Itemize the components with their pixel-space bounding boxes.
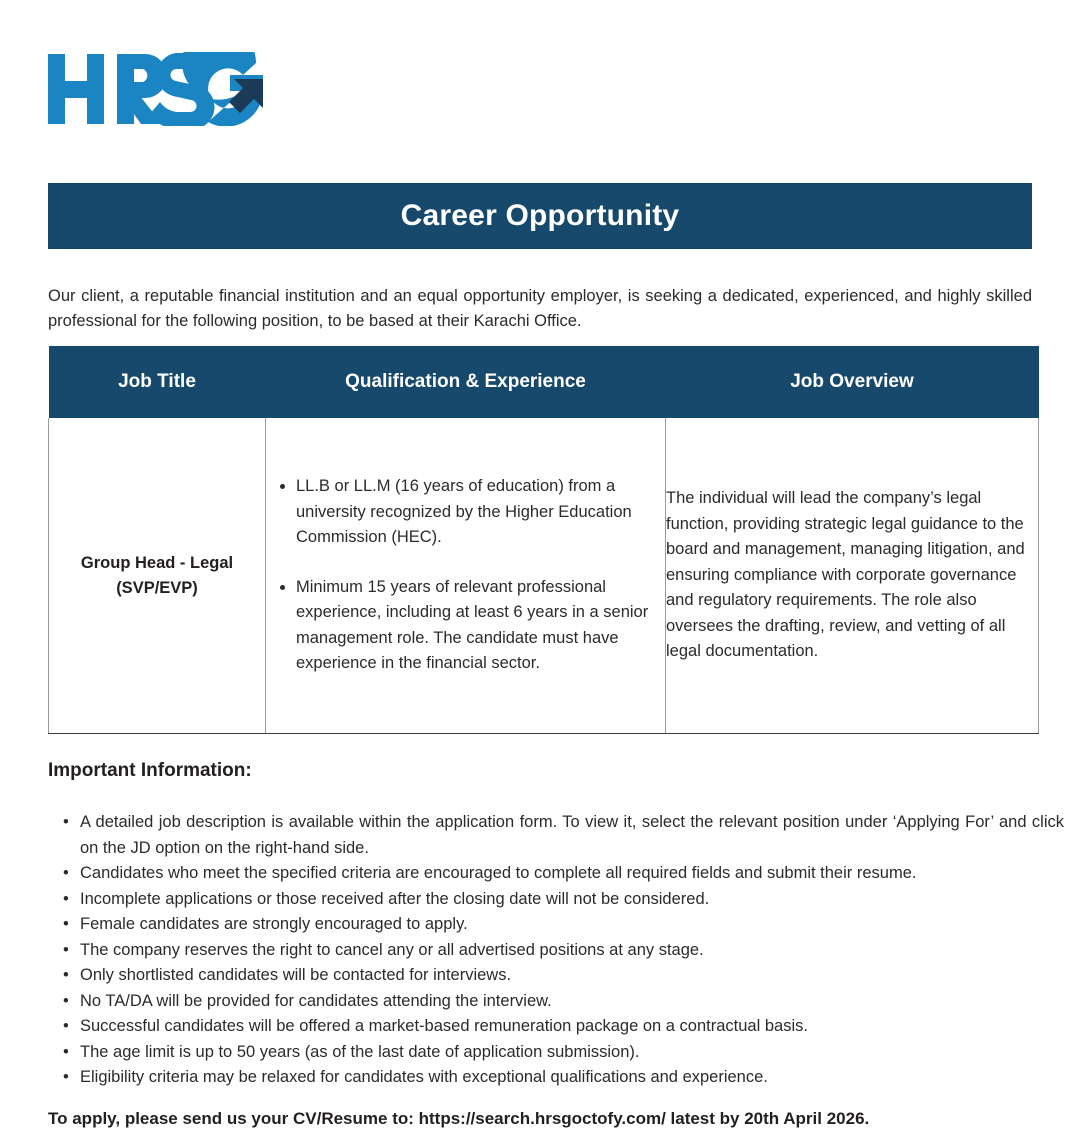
qualification-item: Minimum 15 years of relevant professiona… (296, 575, 665, 677)
column-header-job-title: Job Title (49, 346, 266, 418)
job-title-line-2: (SVP/EVP) (49, 576, 265, 601)
cell-job-overview: The individual will lead the company’s l… (666, 418, 1039, 734)
hrsg-logo (48, 52, 348, 142)
column-header-qualification-experience: Qualification & Experience (266, 346, 666, 418)
cell-qualification-experience: LL.B or LL.M (16 years of education) fro… (266, 418, 666, 734)
hrsg-logo-icon (48, 52, 280, 126)
intro-paragraph: Our client, a reputable financial instit… (48, 284, 1032, 334)
table-header: Job Title Qualification & Experience Job… (49, 346, 1039, 418)
cell-job-title: Group Head - Legal (SVP/EVP) (49, 418, 266, 734)
info-list-item: A detailed job description is available … (80, 810, 1064, 861)
job-advertisement-page: Career Opportunity Our client, a reputab… (0, 0, 1080, 1146)
qualification-list: LL.B or LL.M (16 years of education) fro… (266, 474, 665, 677)
career-opportunity-banner: Career Opportunity (48, 183, 1032, 249)
info-list-item: No TA/DA will be provided for candidates… (80, 989, 1064, 1015)
info-list-item: Female candidates are strongly encourage… (80, 912, 1064, 938)
banner-title: Career Opportunity (401, 199, 680, 233)
job-title-line-1: Group Head - Legal (49, 551, 265, 576)
info-list-item: Successful candidates will be offered a … (80, 1014, 1064, 1040)
qualification-item: LL.B or LL.M (16 years of education) fro… (296, 474, 665, 551)
info-list-item: Only shortlisted candidates will be cont… (80, 963, 1064, 989)
info-list-item: The company reserves the right to cancel… (80, 938, 1064, 964)
table-body: Group Head - Legal (SVP/EVP) LL.B or LL.… (49, 418, 1039, 734)
job-listing-table: Job Title Qualification & Experience Job… (48, 346, 1039, 734)
important-information-heading: Important Information: (48, 760, 252, 782)
important-information-list: A detailed job description is available … (48, 810, 1064, 1091)
column-header-job-overview: Job Overview (666, 346, 1039, 418)
info-list-item: Eligibility criteria may be relaxed for … (80, 1065, 1064, 1091)
info-list-item: The age limit is up to 50 years (as of t… (80, 1040, 1064, 1066)
info-list-item: Incomplete applications or those receive… (80, 887, 1064, 913)
table-row: Group Head - Legal (SVP/EVP) LL.B or LL.… (49, 418, 1039, 734)
table-header-row: Job Title Qualification & Experience Job… (49, 346, 1039, 418)
info-list-item: Candidates who meet the specified criter… (80, 861, 1064, 887)
apply-instruction: To apply, please send us your CV/Resume … (48, 1109, 1032, 1129)
